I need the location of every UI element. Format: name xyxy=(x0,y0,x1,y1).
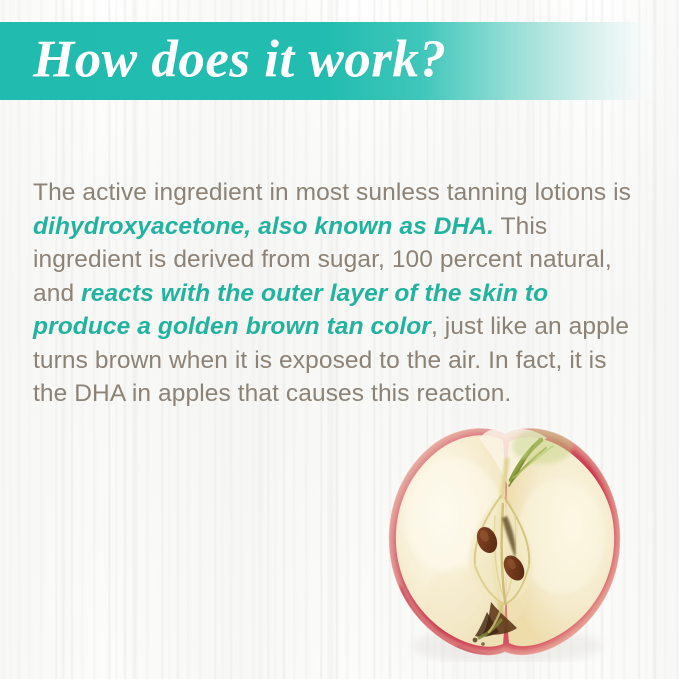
apple-stem-green-tint xyxy=(513,428,573,464)
paragraph-segment-highlight-1: dihydroxyacetone, also known as DHA. xyxy=(33,213,494,240)
poster-page: How does it work? The active ingredient … xyxy=(0,0,679,679)
page-title: How does it work? xyxy=(33,33,446,86)
header-banner: How does it work? xyxy=(0,22,679,100)
apple-illustration xyxy=(383,424,627,662)
paragraph-segment-plain-1: The active ingredient in most sunless ta… xyxy=(33,179,631,206)
apple-image xyxy=(383,424,627,662)
body-paragraph: The active ingredient in most sunless ta… xyxy=(33,176,647,411)
